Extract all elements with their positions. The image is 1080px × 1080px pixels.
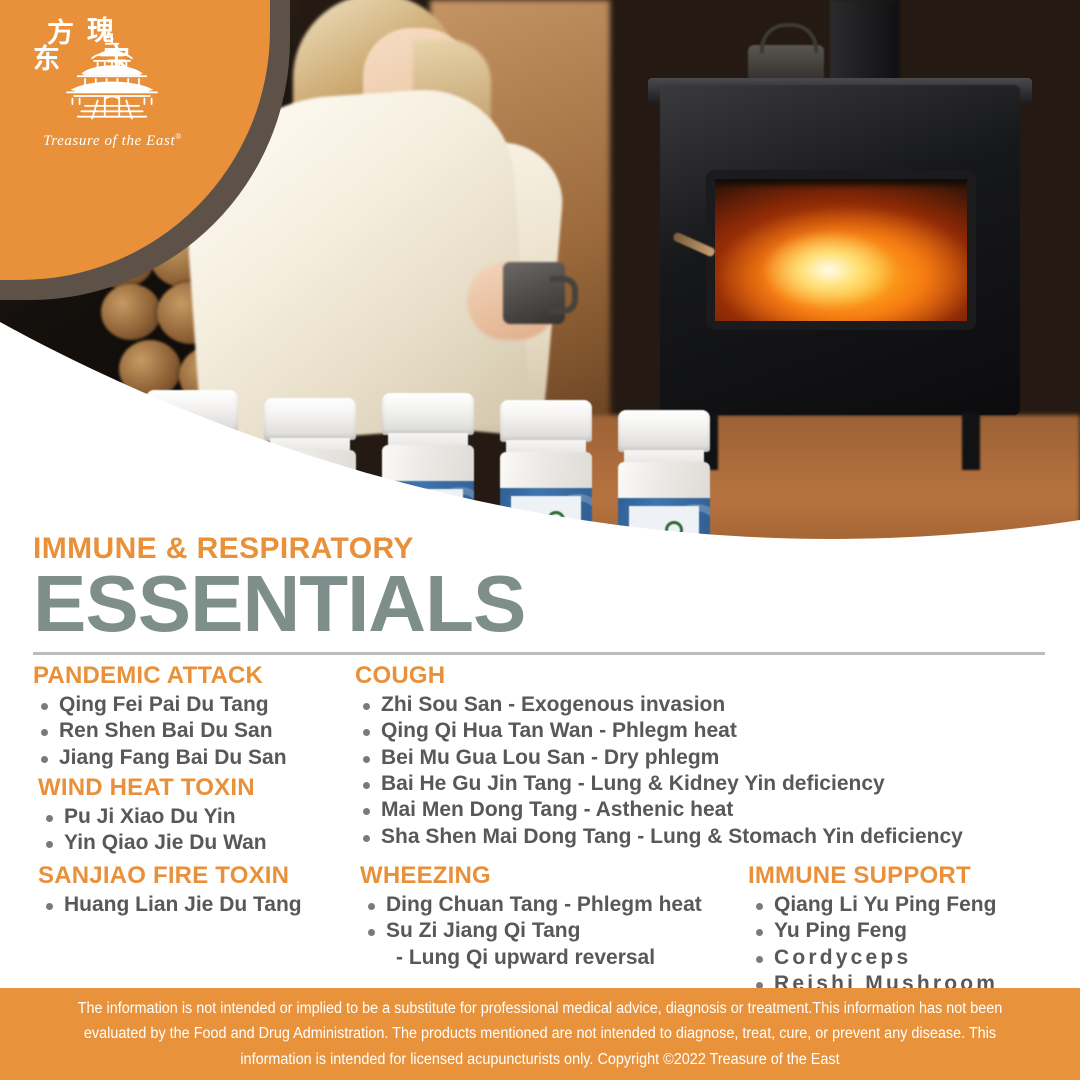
page-title: ESSENTIALS: [33, 566, 1045, 643]
list-item: Mai Men Dong Tang - Asthenic heat: [355, 797, 963, 823]
title-divider: [33, 652, 1045, 655]
list-item: Bai He Gu Jin Tang - Lung & Kidney Yin d…: [355, 771, 963, 797]
formula-list: Qing Fei Pai Du Tang Ren Shen Bai Du San…: [33, 692, 287, 771]
section-immune-support: IMMUNE SUPPORT Qiang Li Yu Ping Feng Yu …: [748, 862, 998, 997]
list-item: Qing Qi Hua Tan Wan - Phlegm heat: [355, 718, 963, 744]
formula-list: Huang Lian Jie Du Tang: [38, 892, 302, 918]
brand-logo[interactable]: 方 瑰 东 宝: [20, 18, 205, 183]
section-wheezing: WHEEZING Ding Chuan Tang - Phlegm heat S…: [360, 862, 702, 971]
section-heading: IMMUNE SUPPORT: [748, 862, 998, 890]
formula-list: Pu Ji Xiao Du Yin Yin Qiao Jie Du Wan: [38, 804, 267, 857]
section-cough: COUGH Zhi Sou San - Exogenous invasion Q…: [355, 662, 963, 850]
list-item: Ding Chuan Tang - Phlegm heat: [360, 892, 702, 918]
list-item: Bei Mu Gua Lou San - Dry phlegm: [355, 745, 963, 771]
section-sanjiao-fire-toxin: SANJIAO FIRE TOXIN Huang Lian Jie Du Tan…: [38, 862, 302, 918]
list-item: Yin Qiao Jie Du Wan: [38, 830, 267, 856]
list-item: Qiang Li Yu Ping Feng: [748, 892, 998, 918]
list-item: Zhi Sou San - Exogenous invasion: [355, 692, 963, 718]
footer-disclaimer-bar: The information is not intended or impli…: [0, 988, 1080, 1080]
formula-list: Qiang Li Yu Ping Feng Yu Ping Feng Cordy…: [748, 892, 998, 998]
chinese-temple-icon: [58, 28, 166, 128]
title-block: IMMUNE & RESPIRATORY ESSENTIALS: [33, 534, 1045, 643]
section-heading: WHEEZING: [360, 862, 702, 890]
list-item: Pu Ji Xiao Du Yin: [38, 804, 267, 830]
list-item: Yu Ping Feng: [748, 918, 998, 944]
list-item: Su Zi Jiang Qi Tang: [360, 918, 702, 944]
section-wind-heat-toxin: WIND HEAT TOXIN Pu Ji Xiao Du Yin Yin Qi…: [38, 774, 267, 857]
chinese-characters: 方 瑰 东 宝: [25, 18, 200, 136]
section-heading: SANJIAO FIRE TOXIN: [38, 862, 302, 890]
list-item: Huang Lian Jie Du Tang: [38, 892, 302, 918]
list-item: Sha Shen Mai Dong Tang - Lung & Stomach …: [355, 824, 963, 850]
list-item: Cordyceps: [748, 945, 998, 971]
list-item: Ren Shen Bai Du San: [33, 718, 287, 744]
section-heading: WIND HEAT TOXIN: [38, 774, 267, 802]
formula-list: Ding Chuan Tang - Phlegm heat Su Zi Jian…: [360, 892, 702, 971]
section-heading: PANDEMIC ATTACK: [33, 662, 287, 690]
disclaimer-text: The information is not intended or impli…: [61, 996, 1019, 1071]
formula-list: Zhi Sou San - Exogenous invasion Qing Qi…: [355, 692, 963, 851]
list-item-continuation: - Lung Qi upward reversal: [360, 945, 702, 971]
section-pandemic-attack: PANDEMIC ATTACK Qing Fei Pai Du Tang Ren…: [33, 662, 287, 771]
chinese-char-dong: 东: [33, 46, 60, 73]
formula-sections: PANDEMIC ATTACK Qing Fei Pai Du Tang Ren…: [0, 662, 1080, 982]
list-item: Qing Fei Pai Du Tang: [33, 692, 287, 718]
list-item: Jiang Fang Bai Du San: [33, 745, 287, 771]
section-heading: COUGH: [355, 662, 963, 690]
